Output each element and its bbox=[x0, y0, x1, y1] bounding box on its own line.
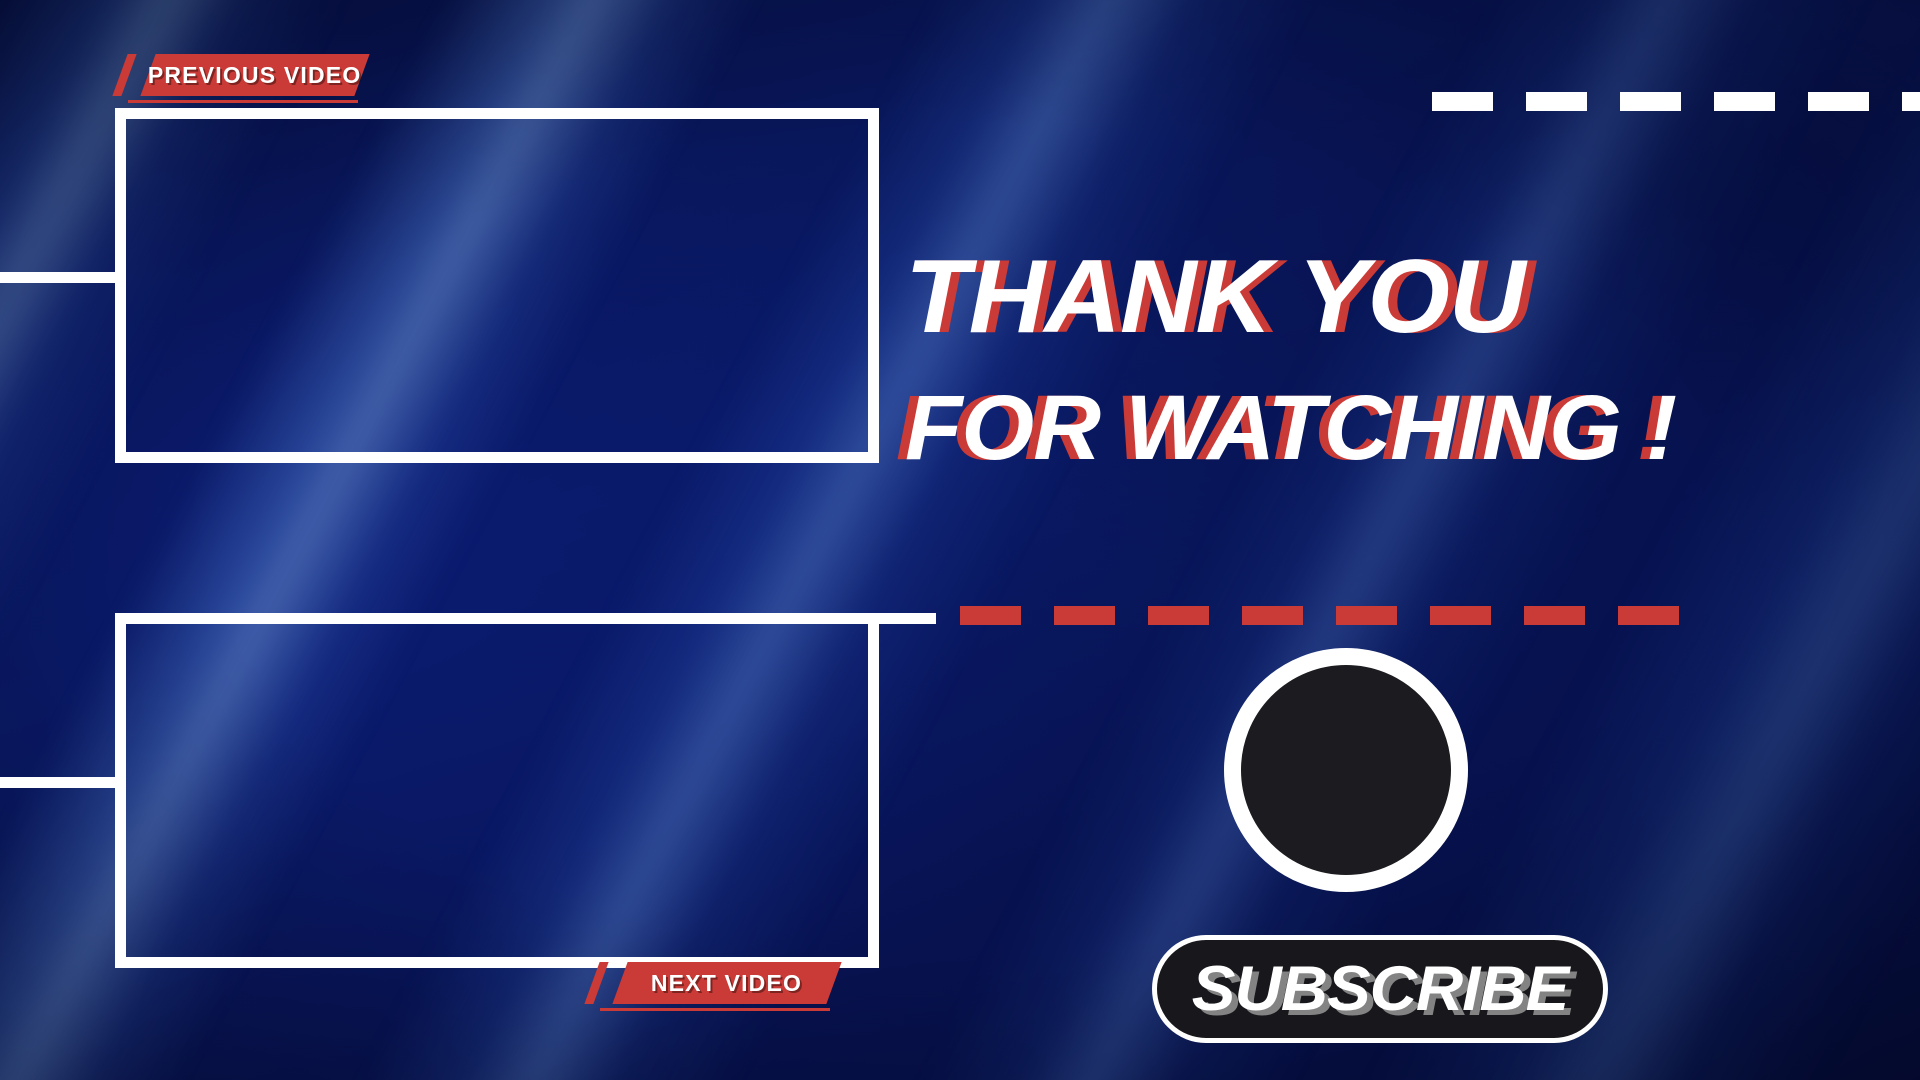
headline: THANK YOU FOR WATCHING ! bbox=[905, 244, 1805, 476]
headline-line-1: THANK YOU bbox=[905, 244, 1823, 351]
banner-underline-next bbox=[600, 1008, 830, 1011]
dash-segment-red bbox=[1336, 606, 1397, 625]
dash-segment-red bbox=[1618, 606, 1679, 625]
connector-line-previous bbox=[0, 272, 116, 283]
connector-line-next bbox=[0, 777, 116, 788]
dash-segment-red bbox=[1430, 606, 1491, 625]
dashed-rule-red bbox=[960, 606, 1679, 625]
dash-segment-white bbox=[1714, 92, 1775, 111]
channel-avatar[interactable] bbox=[1224, 648, 1468, 892]
dash-segment-white bbox=[1902, 92, 1920, 111]
banner-next-video[interactable]: NEXT VIDEO bbox=[612, 962, 841, 1004]
banner-underline-previous bbox=[128, 100, 358, 103]
video-slot-previous[interactable] bbox=[115, 108, 879, 463]
dash-segment-red bbox=[960, 606, 1021, 625]
dash-segment-white bbox=[1526, 92, 1587, 111]
subscribe-button-label: SUBSCRIBE bbox=[1192, 953, 1569, 1025]
dash-segment-white bbox=[1808, 92, 1869, 111]
dash-segment-white bbox=[1620, 92, 1681, 111]
banner-previous-video-label: PREVIOUS VIDEO bbox=[148, 62, 362, 89]
dash-segment-red bbox=[1148, 606, 1209, 625]
headline-line-2: FOR WATCHING ! bbox=[905, 381, 1823, 476]
dash-segment-white bbox=[1432, 92, 1493, 111]
banner-previous-video[interactable]: PREVIOUS VIDEO bbox=[140, 54, 369, 96]
dash-segment-red bbox=[1242, 606, 1303, 625]
dash-segment-red bbox=[1054, 606, 1115, 625]
banner-next-video-label: NEXT VIDEO bbox=[651, 970, 802, 997]
end-screen-canvas: PREVIOUS VIDEO NEXT VIDEO THANK YOU FOR … bbox=[0, 0, 1920, 1080]
video-slot-next[interactable] bbox=[115, 613, 879, 968]
dashed-rule-white bbox=[1432, 92, 1920, 111]
subscribe-button[interactable]: SUBSCRIBE bbox=[1152, 935, 1608, 1043]
dash-segment-red bbox=[1524, 606, 1585, 625]
